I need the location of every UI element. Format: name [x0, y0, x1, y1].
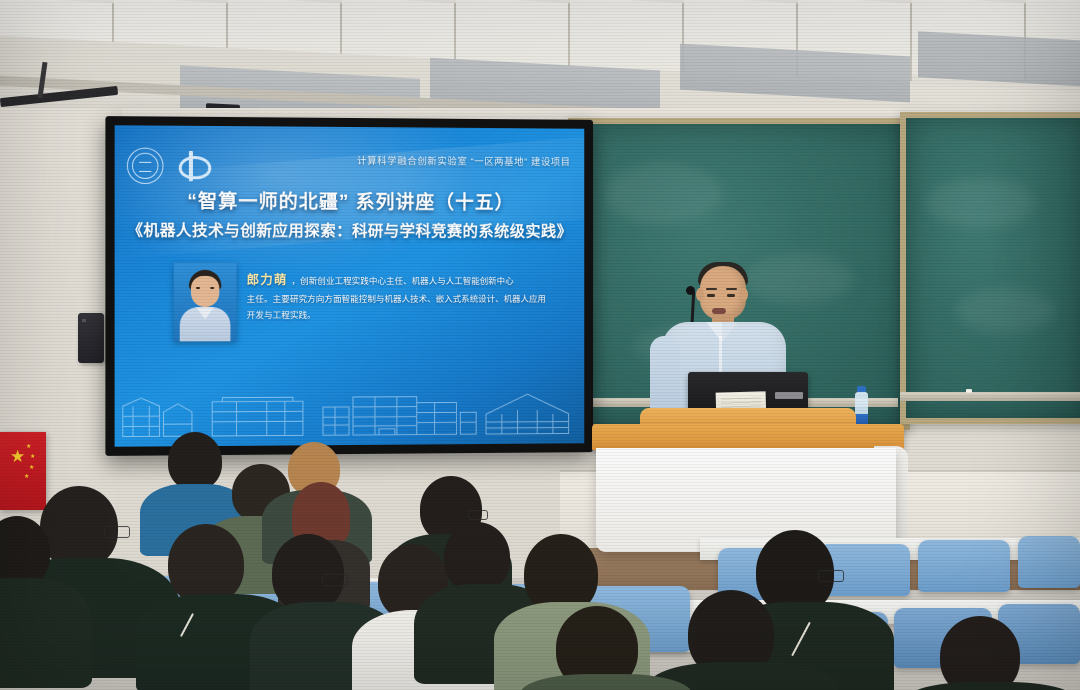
- chalk-ledge-right: [900, 392, 1080, 401]
- audience-area: [0, 430, 1080, 690]
- slide-content: 计算科学融合创新实验室 “一区两基地” 建设项目 “智算一师的北疆” 系列讲座（…: [115, 125, 585, 447]
- slide-subtitle: 《机器人技术与创新应用探索：科研与学科竞赛的系统级实践》: [115, 218, 585, 241]
- presenter-brow: [706, 288, 717, 290]
- presenter-eye: [727, 294, 735, 297]
- institute-emblem-logo-icon: [176, 149, 210, 183]
- speaker-bio-line-3: 开发与工程实践。: [247, 308, 571, 324]
- presenter-ear: [696, 288, 704, 301]
- microphone-icon: [686, 286, 695, 295]
- slide-supertitle: 计算科学融合创新实验室 “一区两基地” 建设项目: [357, 153, 571, 168]
- slide-title: “智算一师的北疆” 系列讲座（十五）: [115, 186, 585, 215]
- chalkboard-panel-right: [900, 112, 1080, 424]
- seat[interactable]: [918, 540, 1010, 592]
- seat[interactable]: [1018, 536, 1080, 588]
- lecture-hall-photo: ★ ★ ★ ★ ★ 计算科学: [0, 0, 1080, 690]
- speaker-bio-line-2: 主任。主要研究方向方面智能控制与机器人技术、嵌入式系统设计、机器人应用: [247, 292, 571, 308]
- wall-speaker-icon: [78, 313, 104, 363]
- ceiling: [0, 0, 1080, 120]
- speaker-portrait-photo: [174, 263, 237, 342]
- presentation-screen[interactable]: 计算科学融合创新实验室 “一区两基地” 建设项目 “智算一师的北疆” 系列讲座（…: [105, 116, 593, 456]
- speaker-bio: 郎力萌，创新创业工程实践中心主任、机器人与人工智能创新中心 主任。主要研究方向方…: [247, 269, 571, 324]
- presenter-ear: [740, 288, 748, 301]
- slide-logos: [127, 148, 210, 185]
- university-seal-logo-icon: [127, 148, 164, 185]
- speaker-bio-line-1: ，创新创业工程实践中心主任、机器人与人工智能创新中心: [291, 276, 513, 286]
- presenter-eye: [707, 294, 715, 297]
- speaker-name: 郎力萌: [247, 273, 288, 287]
- presenter-brow: [726, 288, 737, 290]
